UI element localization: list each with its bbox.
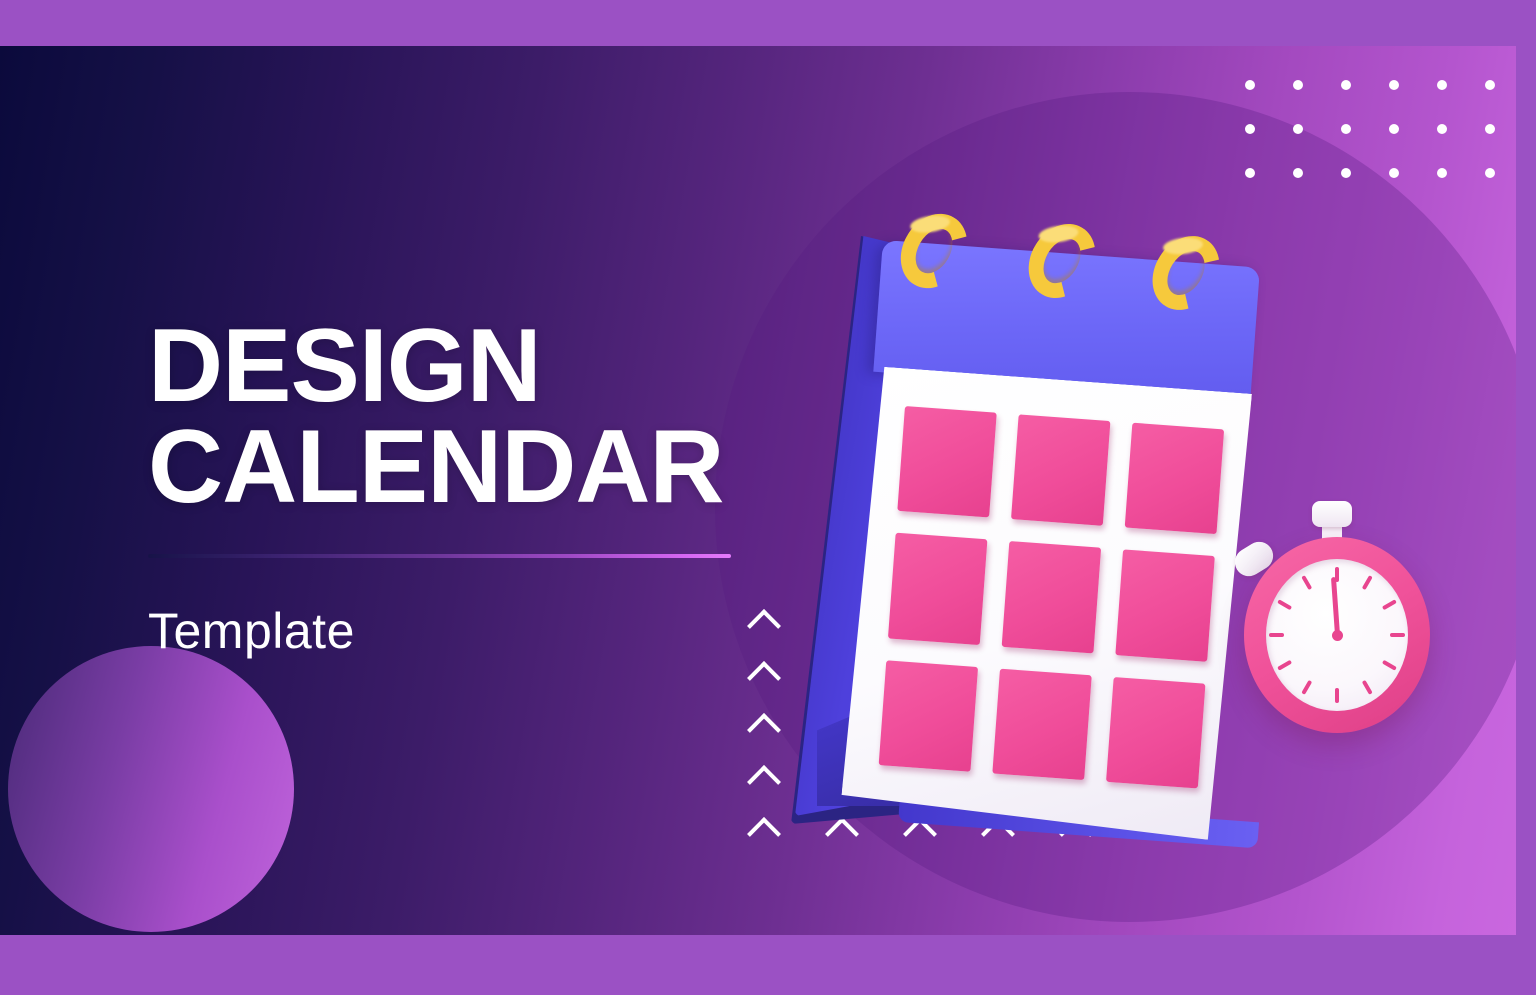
chevron-up-icon xyxy=(752,710,786,744)
calendar-day-cell xyxy=(1011,414,1110,526)
calendar-day-cell xyxy=(1115,550,1214,662)
calendar-day-cell xyxy=(1002,541,1101,653)
headline-line-1: DESIGN xyxy=(148,308,541,424)
dot xyxy=(1341,124,1351,134)
calendar-spiral-ring-icon xyxy=(1155,234,1217,312)
dot xyxy=(1437,124,1447,134)
page-subtitle: Template xyxy=(148,602,731,660)
dot xyxy=(1245,168,1255,178)
banner-canvas: DESIGN CALENDAR Template xyxy=(0,46,1536,935)
dot xyxy=(1341,80,1351,90)
dot xyxy=(1293,168,1303,178)
title-divider xyxy=(148,554,731,558)
dot xyxy=(1245,80,1255,90)
banner-root: DESIGN CALENDAR Template xyxy=(0,0,1536,995)
dot xyxy=(1293,80,1303,90)
dot xyxy=(1485,124,1495,134)
chevron-up-icon xyxy=(752,814,786,848)
stopwatch-crown xyxy=(1312,501,1352,527)
dot xyxy=(1485,168,1495,178)
chevron-up-icon xyxy=(752,762,786,796)
copy-block: DESIGN CALENDAR Template xyxy=(148,316,731,660)
accent-decor-circle xyxy=(8,646,294,932)
dot-grid-decor xyxy=(1226,63,1514,195)
frame-band-right xyxy=(1516,0,1536,995)
calendar-illustration xyxy=(795,196,1295,836)
frame-band-bottom xyxy=(0,935,1536,995)
dot xyxy=(1293,124,1303,134)
stopwatch-center-pin xyxy=(1332,630,1343,641)
stopwatch-hand xyxy=(1330,577,1339,635)
stopwatch-illustration xyxy=(1230,501,1430,761)
dot xyxy=(1389,124,1399,134)
page-title: DESIGN CALENDAR xyxy=(148,316,731,518)
dot xyxy=(1437,80,1447,90)
calendar-day-cell xyxy=(897,406,996,518)
dot xyxy=(1485,80,1495,90)
frame-band-top xyxy=(0,0,1536,46)
calendar-day-cell xyxy=(1125,423,1224,535)
dot xyxy=(1245,124,1255,134)
headline-line-2: CALENDAR xyxy=(148,417,731,518)
chevron-up-icon xyxy=(752,606,786,640)
calendar-spiral-ring-icon xyxy=(1030,221,1093,300)
calendar-day-cell xyxy=(992,668,1091,780)
calendar-spiral-ring-icon xyxy=(902,211,967,291)
dot xyxy=(1437,168,1447,178)
calendar-day-grid xyxy=(879,406,1225,788)
dot xyxy=(1341,168,1351,178)
dot xyxy=(1389,80,1399,90)
chevron-up-icon xyxy=(752,658,786,692)
calendar-day-cell xyxy=(879,660,978,772)
dot xyxy=(1389,168,1399,178)
calendar-day-cell xyxy=(888,533,987,645)
stopwatch-face xyxy=(1266,559,1408,711)
calendar-day-cell xyxy=(1106,677,1205,789)
